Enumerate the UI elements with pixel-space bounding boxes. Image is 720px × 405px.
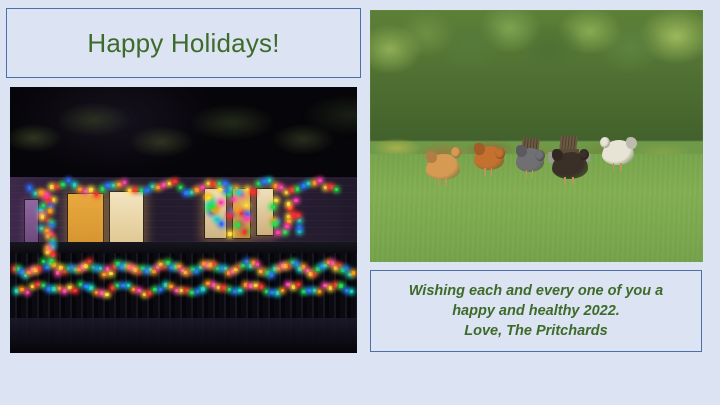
light-bulb: [84, 264, 87, 267]
light-bulb: [296, 214, 299, 217]
light-bulb: [84, 285, 87, 288]
light-bulb: [190, 291, 193, 294]
message-line-3: Love, The Pritchards: [464, 321, 607, 341]
greeting-message-box[interactable]: Wishing each and every one of you a happ…: [370, 270, 702, 352]
light-bulb: [36, 283, 39, 286]
light-bulb: [245, 217, 248, 220]
light-bulb: [162, 183, 165, 186]
page-title: Happy Holidays!: [87, 28, 279, 59]
light-bulb: [302, 290, 305, 293]
light-bulb: [302, 184, 305, 187]
night-ground: [10, 318, 357, 353]
light-bulb: [274, 184, 277, 187]
light-bulb: [339, 284, 342, 287]
light-bulb: [102, 273, 105, 276]
light-bulb: [244, 283, 247, 286]
light-bulb: [313, 272, 316, 275]
light-bulb: [307, 289, 310, 292]
light-bulb: [318, 179, 321, 182]
light-bulb: [20, 270, 23, 273]
holiday-greeting-slide: Happy Holidays! Wishing ea: [0, 0, 720, 405]
light-bulb: [109, 272, 112, 275]
chicken-buff-hen: [426, 150, 460, 188]
light-bulb: [59, 266, 62, 269]
light-bulb: [276, 231, 279, 234]
light-bulb: [223, 182, 226, 185]
chicken-grey-hen: [516, 144, 544, 180]
light-bulb: [111, 286, 114, 289]
light-bulb: [256, 263, 259, 266]
light-bulb: [46, 199, 49, 202]
light-bulb: [249, 284, 252, 287]
light-bulb: [212, 209, 215, 212]
light-bulb: [145, 189, 148, 192]
window-5: [256, 188, 273, 236]
light-bulb: [254, 284, 257, 287]
light-bulb: [287, 215, 290, 218]
light-bulb: [271, 205, 274, 208]
light-bulb: [26, 291, 29, 294]
light-bulb: [73, 289, 76, 292]
light-bulb: [156, 186, 159, 189]
light-bulb: [273, 222, 276, 225]
light-bulb: [20, 288, 23, 291]
light-bulb: [212, 283, 215, 286]
light-bulb: [56, 271, 59, 274]
light-bulb: [316, 267, 319, 270]
light-bulb: [212, 182, 215, 185]
light-bulb: [270, 291, 273, 294]
light-bulb: [73, 183, 76, 186]
light-bulb: [15, 289, 18, 292]
light-bulb: [58, 287, 61, 290]
chicken-white-hen: [602, 136, 634, 173]
light-bulb: [51, 239, 54, 242]
light-bulb: [113, 265, 116, 268]
light-bulb: [128, 189, 131, 192]
light-bulb: [229, 187, 232, 190]
light-bulb: [168, 182, 171, 185]
light-bulb: [45, 229, 48, 232]
light-bulb: [276, 291, 279, 294]
light-bulb: [228, 214, 231, 217]
light-bulb: [313, 181, 316, 184]
light-bulb: [63, 289, 66, 292]
light-bulb: [47, 287, 50, 290]
light-bulb: [285, 191, 288, 194]
light-bulb: [249, 264, 252, 267]
light-bulb: [137, 289, 140, 292]
window-purple: [24, 199, 40, 244]
light-bulb: [234, 268, 237, 271]
light-bulb: [236, 223, 239, 226]
chicken-red-hen: [474, 142, 504, 178]
light-bulb: [77, 268, 80, 271]
light-bulb: [49, 205, 52, 208]
light-bulb: [345, 289, 348, 292]
light-bulb: [243, 230, 246, 233]
light-bulb: [245, 213, 248, 216]
light-bulb: [159, 288, 162, 291]
light-bulb: [166, 261, 169, 264]
light-bulb: [241, 264, 244, 267]
light-bulb: [222, 286, 225, 289]
light-bulb: [287, 220, 290, 223]
light-bulb: [61, 183, 64, 186]
light-bulb: [251, 190, 254, 193]
light-bulb: [39, 209, 42, 212]
light-bulb: [68, 286, 71, 289]
light-bulb: [48, 209, 51, 212]
light-bulb: [140, 189, 143, 192]
light-bulb: [106, 267, 109, 270]
light-bulb: [112, 184, 115, 187]
light-bulb: [101, 187, 104, 190]
light-bulb: [89, 286, 92, 289]
light-bulb: [288, 206, 291, 209]
light-bulb: [238, 289, 241, 292]
light-bulb: [329, 185, 332, 188]
light-bulb: [218, 188, 221, 191]
light-bulb: [195, 188, 198, 191]
light-bulb: [270, 273, 273, 276]
light-bulb: [78, 188, 81, 191]
light-bulb: [323, 284, 326, 287]
light-bulb: [152, 270, 155, 273]
light-bulb: [185, 289, 188, 292]
light-bulb: [283, 230, 286, 233]
light-bulb: [89, 188, 92, 191]
light-bulb: [184, 191, 187, 194]
light-bulb: [274, 199, 277, 202]
light-bulb: [143, 293, 146, 296]
light-bulb: [290, 188, 293, 191]
light-bulb: [164, 283, 167, 286]
light-bulb: [260, 285, 263, 288]
light-bulb: [292, 285, 295, 288]
light-bulb: [215, 218, 218, 221]
light-bulb: [105, 293, 108, 296]
light-bulb: [201, 287, 204, 290]
title-text-box[interactable]: Happy Holidays!: [6, 8, 361, 78]
light-bulb: [331, 261, 334, 264]
light-bulb: [306, 269, 309, 272]
light-bulb: [298, 230, 301, 233]
light-bulb: [329, 286, 332, 289]
light-bulb: [13, 267, 16, 270]
light-bulb: [27, 271, 30, 274]
light-bulb: [106, 184, 109, 187]
holiday-lights-photo[interactable]: [10, 87, 357, 353]
light-bulb: [153, 288, 156, 291]
chicken-speckled-hen: [552, 148, 588, 187]
light-bulb: [338, 264, 341, 267]
chickens-garden-photo[interactable]: [370, 10, 703, 262]
light-bulb: [52, 198, 55, 201]
light-bulb: [302, 265, 305, 268]
light-bulb: [223, 189, 226, 192]
light-bulb: [148, 291, 151, 294]
light-bulb: [52, 263, 55, 266]
light-bulb: [286, 283, 289, 286]
message-line-1: Wishing each and every one of you a: [409, 281, 664, 301]
light-bulb: [51, 253, 54, 256]
light-bulb: [52, 287, 55, 290]
message-line-2: happy and healthy 2022.: [452, 301, 620, 321]
light-bulb: [292, 213, 295, 216]
light-bulb: [228, 232, 231, 235]
light-bulb: [50, 185, 53, 188]
light-bulb: [117, 183, 120, 186]
light-bulb: [295, 262, 298, 265]
light-bulb: [45, 195, 48, 198]
light-bulb: [42, 260, 45, 263]
